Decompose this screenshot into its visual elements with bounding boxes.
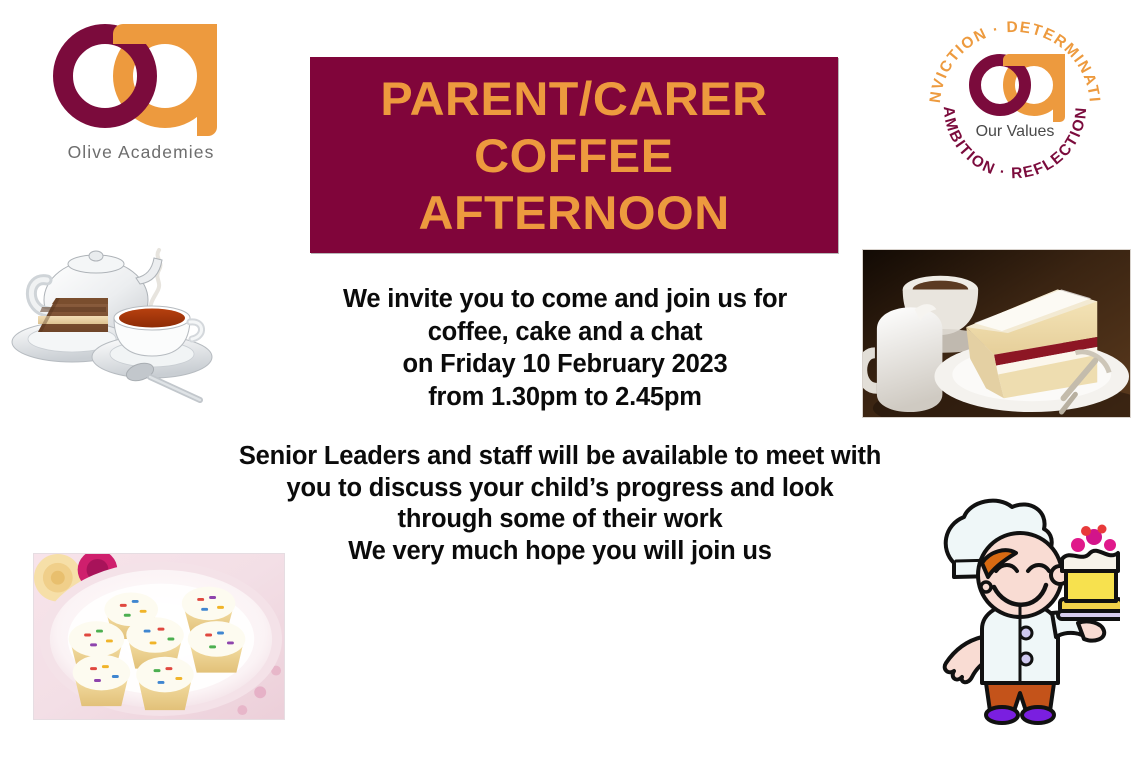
meeting-paragraph: Senior Leaders and staff will be availab… [180, 441, 940, 567]
title-line-2: COFFEE [474, 127, 673, 184]
invite-line-2: coffee, cake and a chat [240, 316, 890, 349]
badge-letter-a-bar [1003, 54, 1059, 66]
title-line-3: AFTERNOON [418, 184, 729, 241]
badge-letter-a-stem [1053, 54, 1065, 122]
our-values-badge: CONVICTION · DETERMINATION AMBITION · RE… [920, 12, 1110, 202]
brand-wordmark: Olive Academies [36, 142, 246, 163]
monogram-letter-a-stem [197, 24, 217, 136]
monogram-letter-a-bar [113, 24, 207, 44]
iced-cupcakes-photo [33, 553, 285, 720]
invite-line-3: on Friday 10 February 2023 [240, 348, 890, 381]
meeting-line-2: you to discuss your child’s progress and… [180, 473, 940, 505]
teapot-cake-teacup-clipart-icon [4, 232, 230, 404]
title-line-1: PARENT/CARER [380, 70, 767, 127]
meeting-line-1: Senior Leaders and staff will be availab… [180, 441, 940, 473]
ca-monogram-icon [51, 18, 231, 133]
invite-paragraph: We invite you to come and join us for co… [240, 283, 890, 413]
title-banner: PARENT/CARER COFFEE AFTERNOON [310, 57, 838, 253]
invite-line-1: We invite you to come and join us for [240, 283, 890, 316]
cartoon-chef-holding-cake-clipart-icon [920, 487, 1120, 727]
badge-center-label: Our Values [920, 123, 1110, 141]
meeting-line-4: We very much hope you will join us [180, 536, 940, 568]
brand-logo: Olive Academies [36, 18, 246, 178]
poster-canvas: Olive Academies CONVICTION · DETERMINATI… [0, 0, 1131, 783]
badge-ca-monogram-icon [961, 52, 1071, 124]
meeting-line-3: through some of their work [180, 504, 940, 536]
victoria-sponge-cake-photo [862, 249, 1131, 418]
invite-line-4: from 1.30pm to 2.45pm [240, 381, 890, 414]
